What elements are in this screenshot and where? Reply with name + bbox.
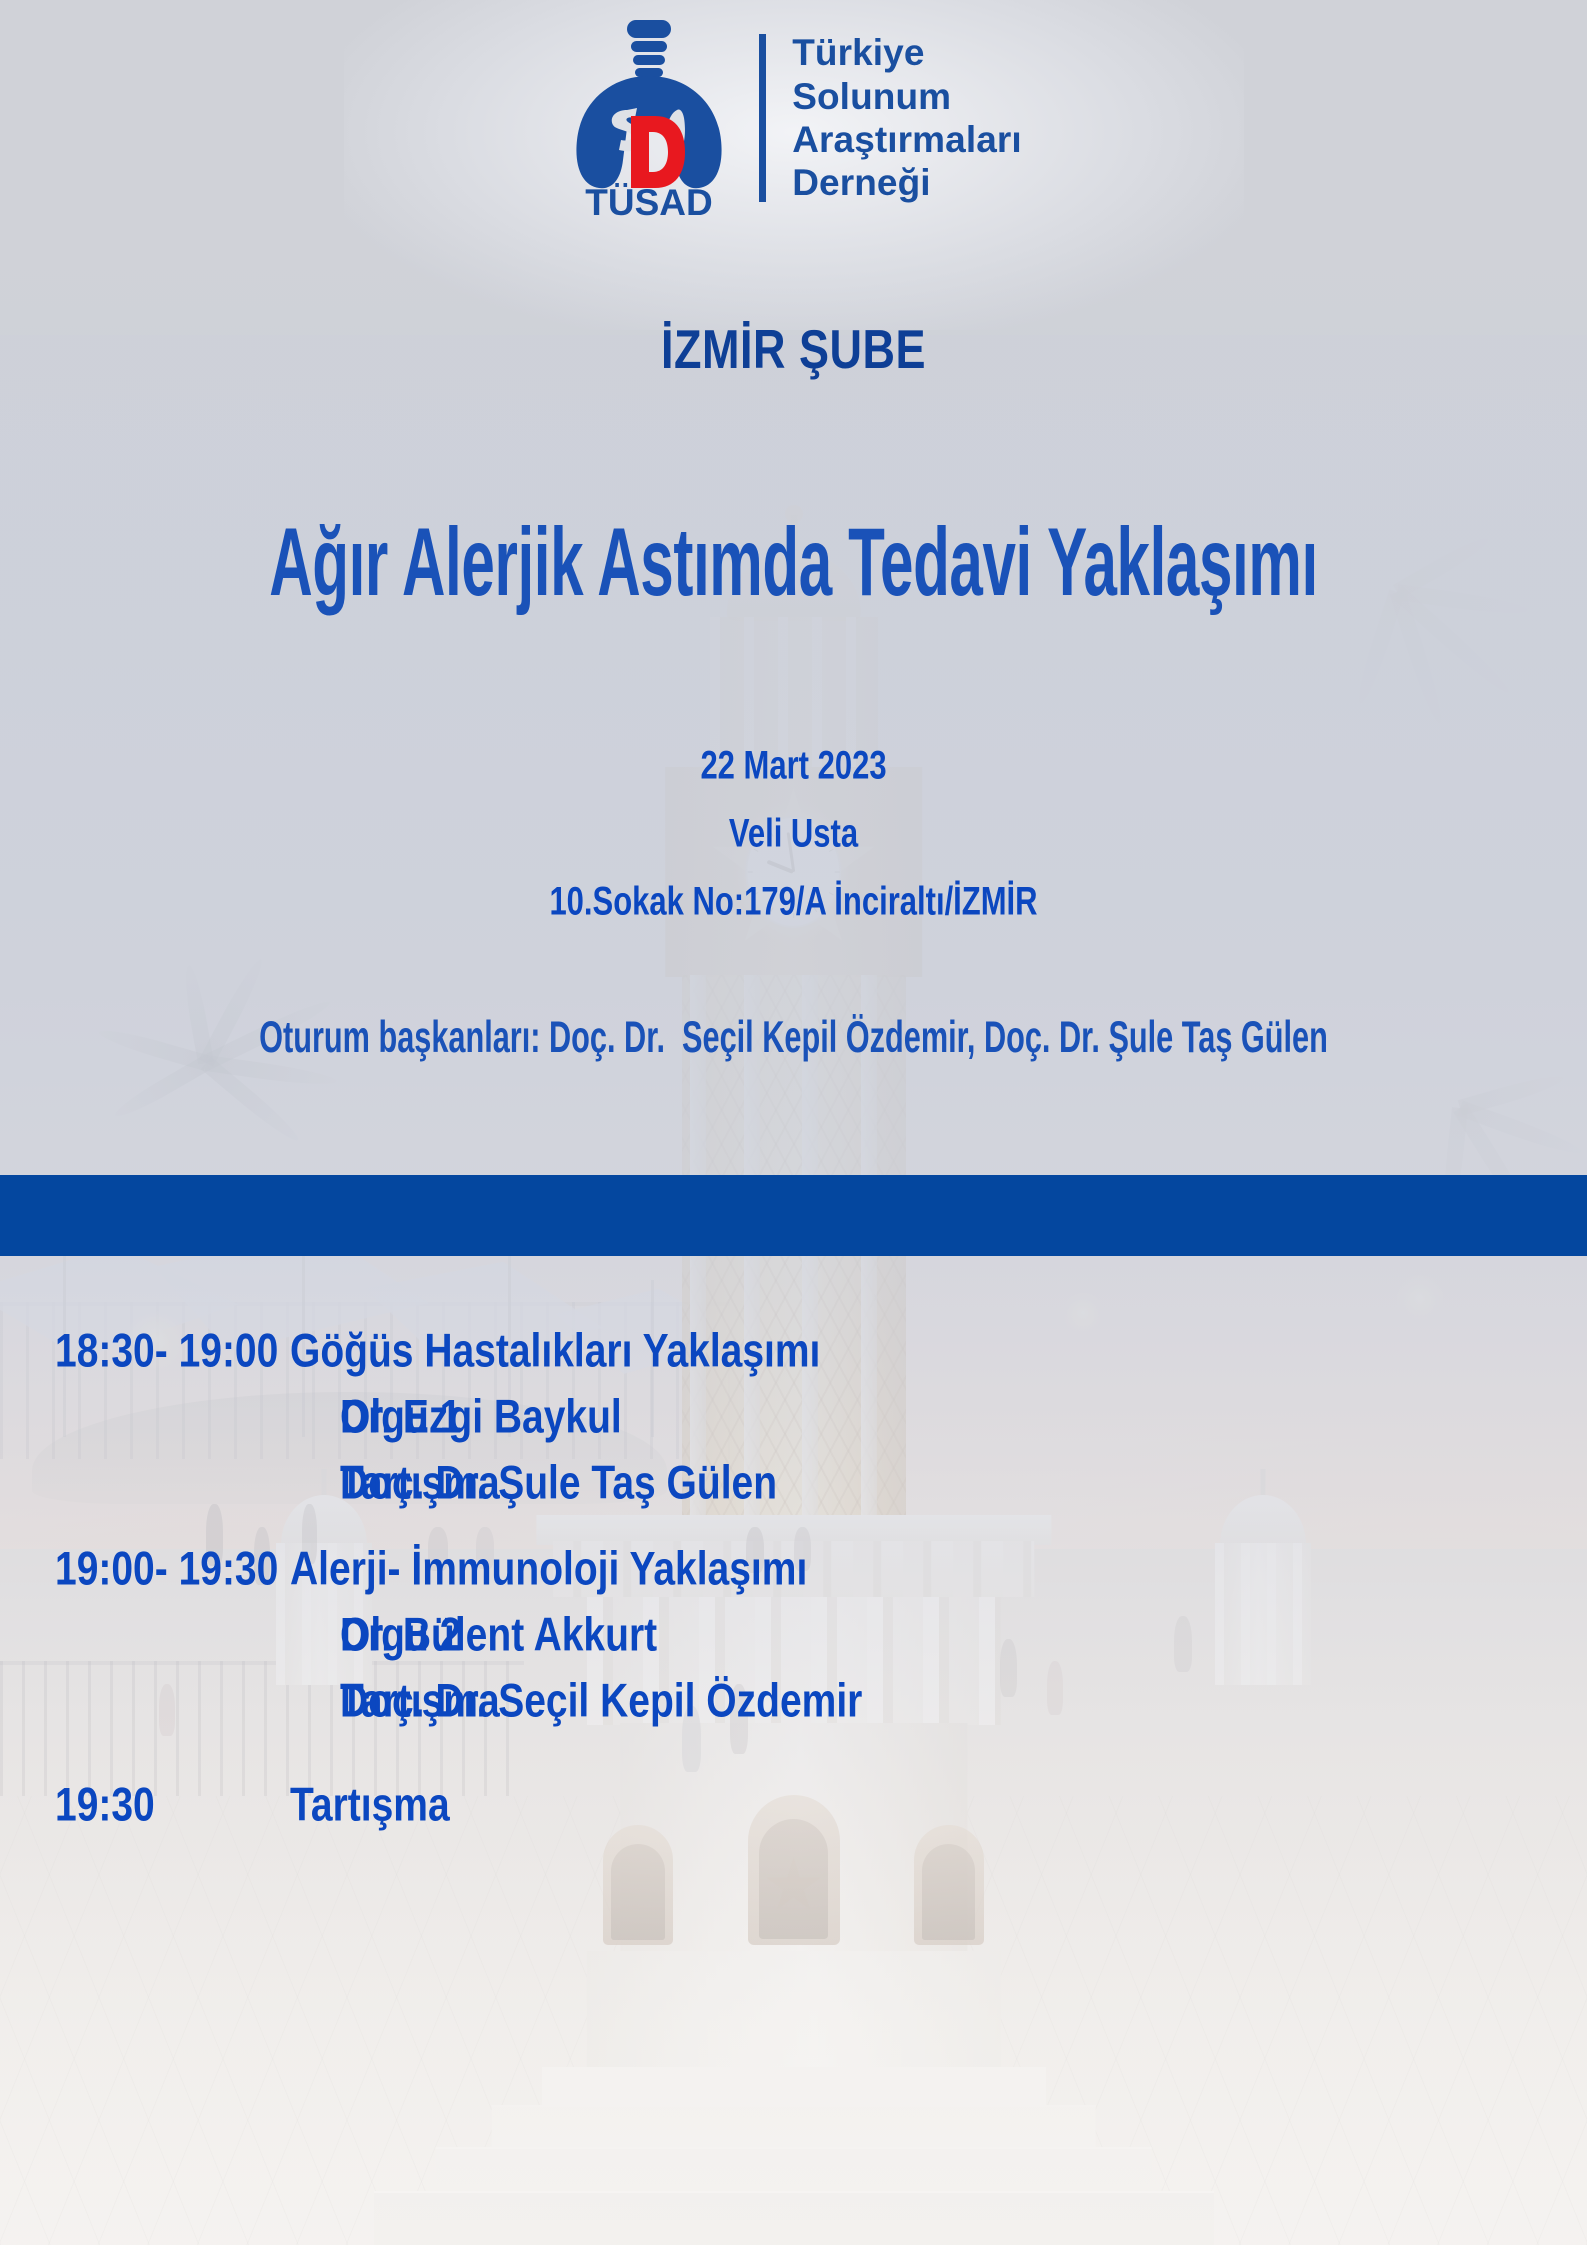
event-title: Ağır Alerjik Astımda Tedavi Yaklaşımı bbox=[24, 508, 1563, 618]
session-chairs: Oturum başkanları: Doç. Dr. Seçil Kepil … bbox=[8, 1012, 1579, 1063]
program-row: Olgu 2 Dr. Bülent Akkurt bbox=[0, 1609, 1587, 1653]
program-schedule: 18:30- 19:00 Göğüs Hastalıkları Yaklaşım… bbox=[0, 1325, 1587, 1823]
program-item-label: Tartışma bbox=[0, 1675, 340, 1729]
branch-name: İZMİR ŞUBE bbox=[0, 318, 1587, 381]
organization-name: Türkiye Solunum Araştırmaları Derneği bbox=[792, 31, 1022, 204]
program-header: 19:00- 19:30 Alerji- İmmunoloji Yaklaşım… bbox=[0, 1543, 1587, 1587]
divider-band bbox=[0, 1175, 1587, 1256]
program-item-person: Dr. Bülent Akkurt bbox=[340, 1609, 657, 1663]
event-poster: TÜSAD Türkiye Solunum Araştırmaları Dern… bbox=[0, 0, 1587, 2245]
program-time: 18:30- 19:00 bbox=[0, 1325, 290, 1379]
program-topic: Alerji- İmmunoloji Yaklaşımı bbox=[290, 1543, 807, 1597]
program-row: Tartışma Doç. Dr. Şule Taş Gülen bbox=[0, 1457, 1587, 1501]
program-final-time: 19:30 bbox=[0, 1779, 290, 1833]
program-topic: Göğüs Hastalıkları Yaklaşımı bbox=[290, 1325, 820, 1379]
program-item-label: Olgu 1 bbox=[0, 1391, 340, 1445]
program-row: Tartışma Doç. Dr. Seçil Kepil Özdemir bbox=[0, 1675, 1587, 1719]
program-final-label: Tartışma bbox=[290, 1779, 450, 1833]
event-address: 10.Sokak No:179/A İnciraltı/İZMİR bbox=[0, 878, 1587, 925]
program-item-person: Dr. Ezgi Baykul bbox=[340, 1391, 622, 1445]
org-line-2: Solunum bbox=[792, 75, 1022, 118]
program-header: 18:30- 19:00 Göğüs Hastalıkları Yaklaşım… bbox=[0, 1325, 1587, 1369]
poster-content: TÜSAD Türkiye Solunum Araştırmaları Dern… bbox=[0, 0, 1587, 2245]
program-final-row: 19:30 Tartışma bbox=[0, 1779, 1587, 1823]
event-date: 22 Mart 2023 bbox=[0, 742, 1587, 789]
program-item-label: Tartışma bbox=[0, 1457, 340, 1511]
logo-row: TÜSAD Türkiye Solunum Araştırmaları Dern… bbox=[0, 18, 1587, 218]
program-block: 18:30- 19:00 Göğüs Hastalıkları Yaklaşım… bbox=[0, 1325, 1587, 1501]
program-item-person: Doç. Dr. Şule Taş Gülen bbox=[340, 1457, 777, 1511]
program-item-person: Doç. Dr. Seçil Kepil Özdemir bbox=[340, 1675, 862, 1729]
program-row: Olgu 1 Dr. Ezgi Baykul bbox=[0, 1391, 1587, 1435]
event-venue: Veli Usta bbox=[0, 810, 1587, 857]
program-block: 19:00- 19:30 Alerji- İmmunoloji Yaklaşım… bbox=[0, 1543, 1587, 1719]
program-time: 19:00- 19:30 bbox=[0, 1543, 290, 1597]
org-line-4: Derneği bbox=[792, 161, 1022, 204]
program-item-label: Olgu 2 bbox=[0, 1609, 340, 1663]
tusad-acronym: TÜSAD bbox=[585, 182, 712, 218]
org-line-1: Türkiye bbox=[792, 31, 1022, 74]
tusad-lung-logo-icon: TÜSAD bbox=[565, 18, 733, 218]
org-line-3: Araştırmaları bbox=[792, 118, 1022, 161]
event-meta: 22 Mart 2023 Veli Usta 10.Sokak No:179/A… bbox=[0, 742, 1587, 914]
logo-divider bbox=[759, 34, 766, 202]
